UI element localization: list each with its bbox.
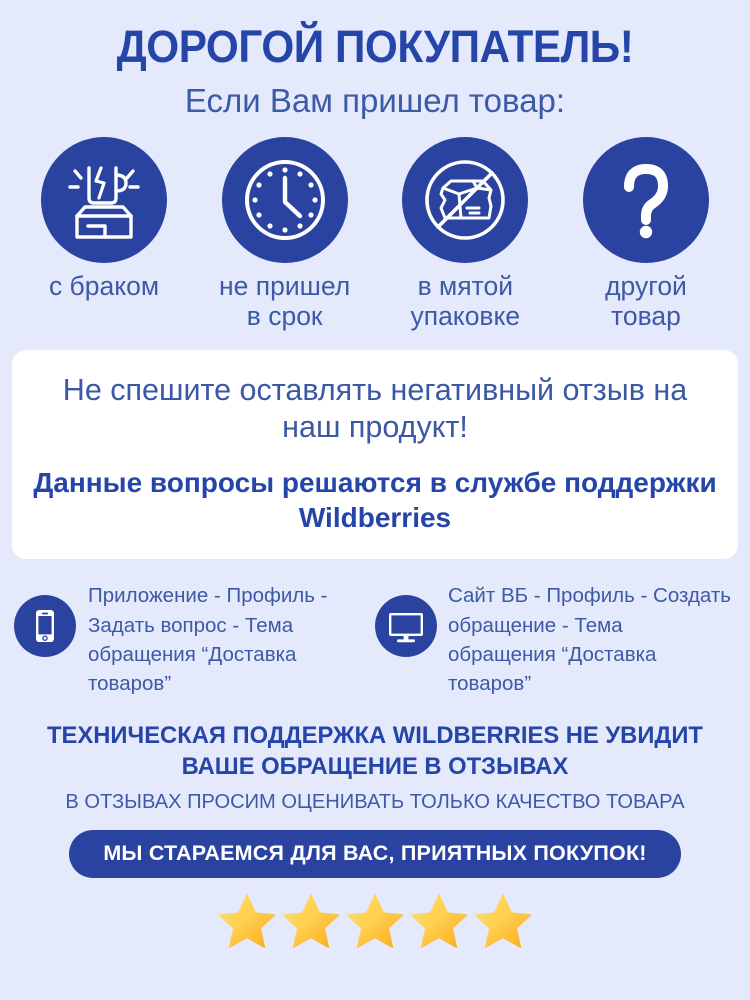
channel-mobile-app: Приложение - Профиль - Задать вопрос - Т… (14, 581, 375, 697)
smartphone-icon (14, 595, 76, 657)
reason-item-late: не пришел в срок (199, 137, 371, 332)
reason-icon-row: с браком не пришел в срок (0, 119, 750, 332)
question-mark-icon (583, 137, 709, 263)
star-icon (280, 890, 342, 950)
footer-warning: ТЕХНИЧЕСКАЯ ПОДДЕРЖКА WILDBERRIES НЕ УВИ… (21, 720, 729, 783)
reason-label: с браком (49, 272, 159, 302)
no-crumpled-package-icon (402, 137, 528, 263)
cta-container: МЫ СТАРАЕМСЯ ДЛЯ ВАС, ПРИЯТНЫХ ПОКУПОК! (0, 830, 750, 878)
rating-stars (0, 890, 750, 950)
reason-label: другой товар (605, 272, 687, 332)
notice-primary-text: Не спешите оставлять негативный отзыв на… (30, 372, 720, 446)
header: ДОРОГОЙ ПОКУПАТЕЛЬ! Если Вам пришел това… (0, 0, 750, 119)
page-title: ДОРОГОЙ ПОКУПАТЕЛЬ! (23, 0, 728, 69)
support-channels: Приложение - Профиль - Задать вопрос - Т… (0, 559, 750, 697)
page-subtitle: Если Вам пришел товар: (0, 83, 750, 119)
star-icon (216, 890, 278, 950)
star-icon (472, 890, 534, 950)
footer-notice: ТЕХНИЧЕСКАЯ ПОДДЕРЖКА WILDBERRIES НЕ УВИ… (0, 720, 750, 814)
happy-shopping-button[interactable]: МЫ СТАРАЕМСЯ ДЛЯ ВАС, ПРИЯТНЫХ ПОКУПОК! (69, 830, 680, 878)
reason-label: не пришел в срок (219, 272, 350, 332)
reason-item-crumpled: в мятой упаковке (379, 137, 551, 332)
footer-request: В ОТЗЫВАХ ПРОСИМ ОЦЕНИВАТЬ ТОЛЬКО КАЧЕСТ… (17, 790, 732, 814)
clock-icon (222, 137, 348, 263)
broken-cup-in-box-icon (41, 137, 167, 263)
channel-instructions: Сайт ВБ - Профиль - Создать обращение - … (448, 581, 736, 697)
desktop-monitor-icon (375, 595, 437, 657)
reason-label: в мятой упаковке (410, 272, 520, 332)
channel-website: Сайт ВБ - Профиль - Создать обращение - … (375, 581, 736, 697)
notice-card: Не спешите оставлять негативный отзыв на… (12, 350, 738, 559)
star-icon (344, 890, 406, 950)
notice-secondary-text: Данные вопросы решаются в службе поддерж… (30, 466, 720, 535)
reason-item-wrong-product: другой товар (560, 137, 732, 332)
channel-instructions: Приложение - Профиль - Задать вопрос - Т… (88, 581, 375, 697)
star-icon (408, 890, 470, 950)
reason-item-defect: с браком (18, 137, 190, 332)
